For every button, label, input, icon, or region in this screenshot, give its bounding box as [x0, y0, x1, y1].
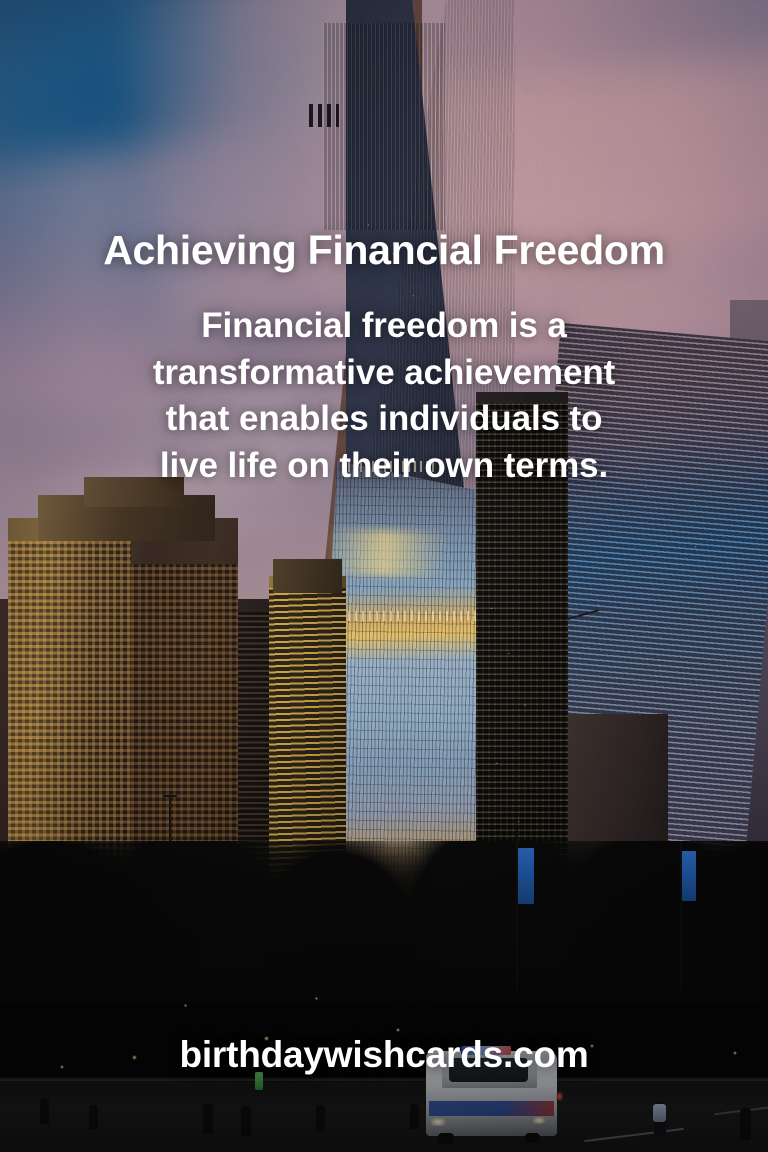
text-overlay: Achieving Financial Freedom Financial fr… — [0, 0, 768, 1152]
quote-line-1: Financial freedom is a — [92, 303, 676, 350]
quote-line-3: that enables individuals to — [92, 396, 676, 443]
headline-title: Achieving Financial Freedom — [0, 228, 768, 274]
quote-line-4: live life on their own terms. — [92, 443, 676, 490]
quote-card: Achieving Financial Freedom Financial fr… — [0, 0, 768, 1152]
quote-line-2: transformative achievement — [92, 350, 676, 397]
website-url: birthdaywishcards.com — [0, 1034, 768, 1076]
quote-body: Financial freedom is a transformative ac… — [0, 303, 768, 489]
